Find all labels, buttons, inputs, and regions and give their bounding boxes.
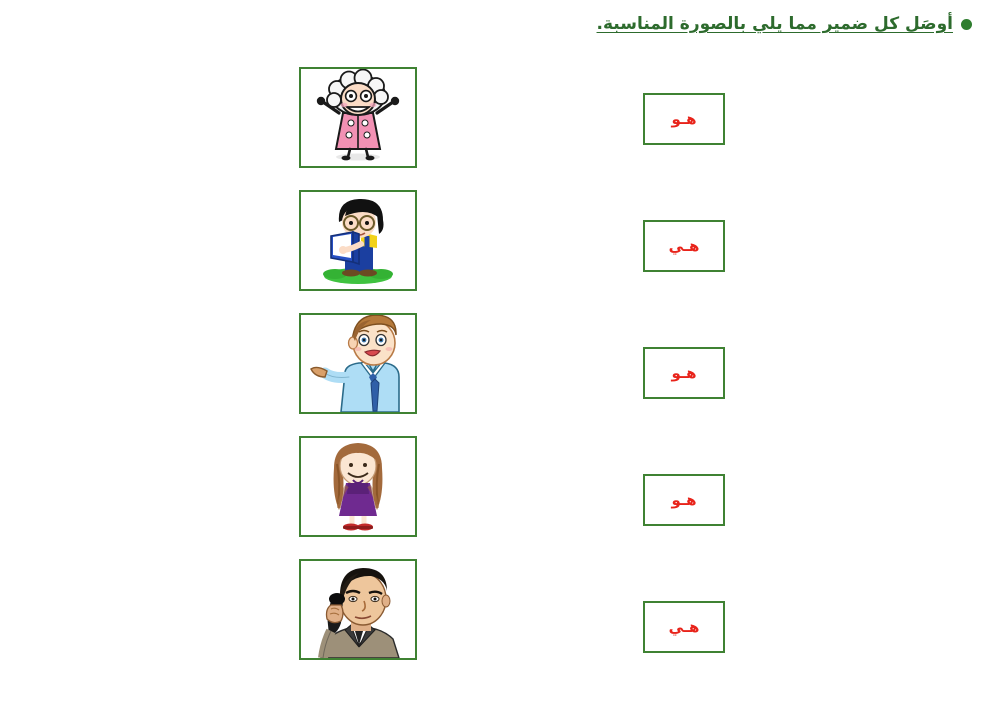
word-box-1-label: هـو <box>672 110 697 128</box>
word-box-3-label: هـو <box>672 364 697 382</box>
instruction-text: أوصَل كل ضمير مما يلي بالصورة المناسبة. <box>597 14 953 34</box>
picture-column <box>299 67 419 682</box>
grandmother-icon <box>301 69 415 166</box>
picture-frame-3[interactable] <box>299 313 417 414</box>
man-presenting-icon <box>301 315 415 412</box>
word-box-4-label: هـو <box>672 491 697 509</box>
picture-frame-2[interactable] <box>299 190 417 291</box>
word-box-1[interactable]: هـو <box>643 93 725 145</box>
bullet-dot-icon <box>961 19 972 30</box>
word-box-2[interactable]: هـي <box>643 220 725 272</box>
word-box-5-label: هـي <box>669 618 700 636</box>
picture-frame-1[interactable] <box>299 67 417 168</box>
man-on-phone-icon <box>301 561 415 658</box>
word-box-2-label: هـي <box>669 237 700 255</box>
word-box-4[interactable]: هـو <box>643 474 725 526</box>
girl-icon <box>301 438 415 535</box>
boy-reading-icon <box>301 192 415 289</box>
word-box-3[interactable]: هـو <box>643 347 725 399</box>
word-column: هـو هـي هـو هـو هـي <box>643 93 727 728</box>
picture-frame-5[interactable] <box>299 559 417 660</box>
word-box-5[interactable]: هـي <box>643 601 725 653</box>
picture-frame-4[interactable] <box>299 436 417 537</box>
exercise-instruction: أوصَل كل ضمير مما يلي بالصورة المناسبة. <box>597 14 972 34</box>
